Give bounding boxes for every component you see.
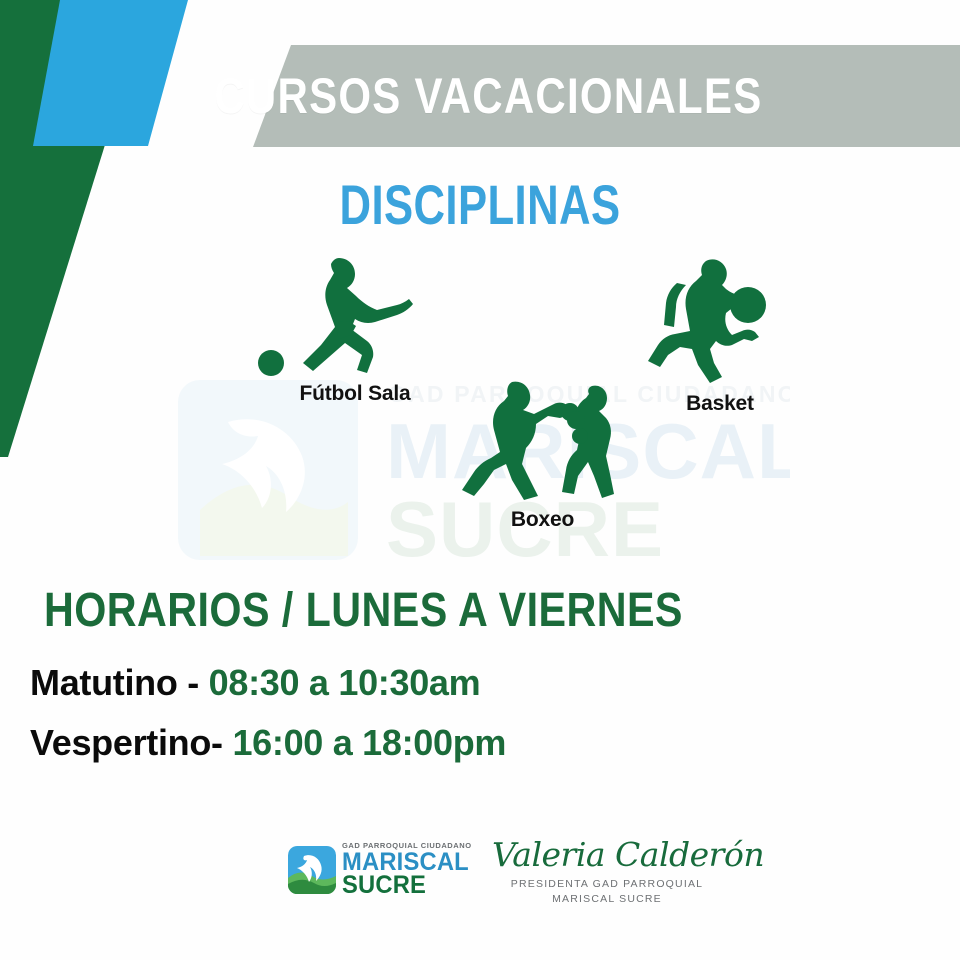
soccer-player-silhouette-icon xyxy=(255,255,455,380)
page-title: CURSOS VACACIONALES xyxy=(77,45,883,147)
logo-line-sucre: SUCRE xyxy=(342,874,469,898)
discipline-label: Fútbol Sala xyxy=(255,382,455,406)
logo-text-block: GAD PARROQUIAL CIUDADANO MARISCAL SUCRE xyxy=(342,842,476,897)
schedule-row-label: Matutino - xyxy=(30,662,209,703)
schedule-row-matutino: Matutino - 08:30 a 10:30am xyxy=(30,662,480,704)
schedule-row-time: 08:30 a 10:30am xyxy=(209,662,481,703)
footer: GAD PARROQUIAL CIUDADANO MARISCAL SUCRE … xyxy=(0,836,960,936)
schedule-row-vespertino: Vespertino- 16:00 a 18:00pm xyxy=(30,722,506,764)
discipline-label: Basket xyxy=(640,392,800,416)
signature-role: PRESIDENTA GAD PARROQUIAL MARISCAL SUCRE xyxy=(492,877,722,907)
organization-logo: GAD PARROQUIAL CIUDADANO MARISCAL SUCRE xyxy=(288,842,476,897)
schedule-row-label: Vespertino- xyxy=(30,722,232,763)
header-banner: CURSOS VACACIONALES xyxy=(0,45,960,147)
schedule-row-time: 16:00 a 18:00pm xyxy=(232,722,506,763)
signature-name: Valeria Calderón xyxy=(492,838,722,873)
signature-block: Valeria Calderón PRESIDENTA GAD PARROQUI… xyxy=(492,838,722,907)
schedule-heading: HORARIOS / LUNES A VIERNES xyxy=(44,583,683,638)
basketball-player-silhouette-icon xyxy=(640,255,800,390)
signature-role-line1: PRESIDENTA GAD PARROQUIAL xyxy=(492,877,722,892)
discipline-boxeo: Boxeo xyxy=(450,378,635,532)
discipline-label: Boxeo xyxy=(450,508,635,532)
signature-role-line2: MARISCAL SUCRE xyxy=(492,892,722,907)
discipline-futbol-sala: Fútbol Sala xyxy=(255,255,455,406)
horse-head-logo-icon xyxy=(288,846,336,894)
boxers-silhouette-icon xyxy=(450,378,635,506)
subtitle-disciplinas: DISCIPLINAS xyxy=(106,172,855,237)
discipline-basket: Basket xyxy=(640,255,800,416)
